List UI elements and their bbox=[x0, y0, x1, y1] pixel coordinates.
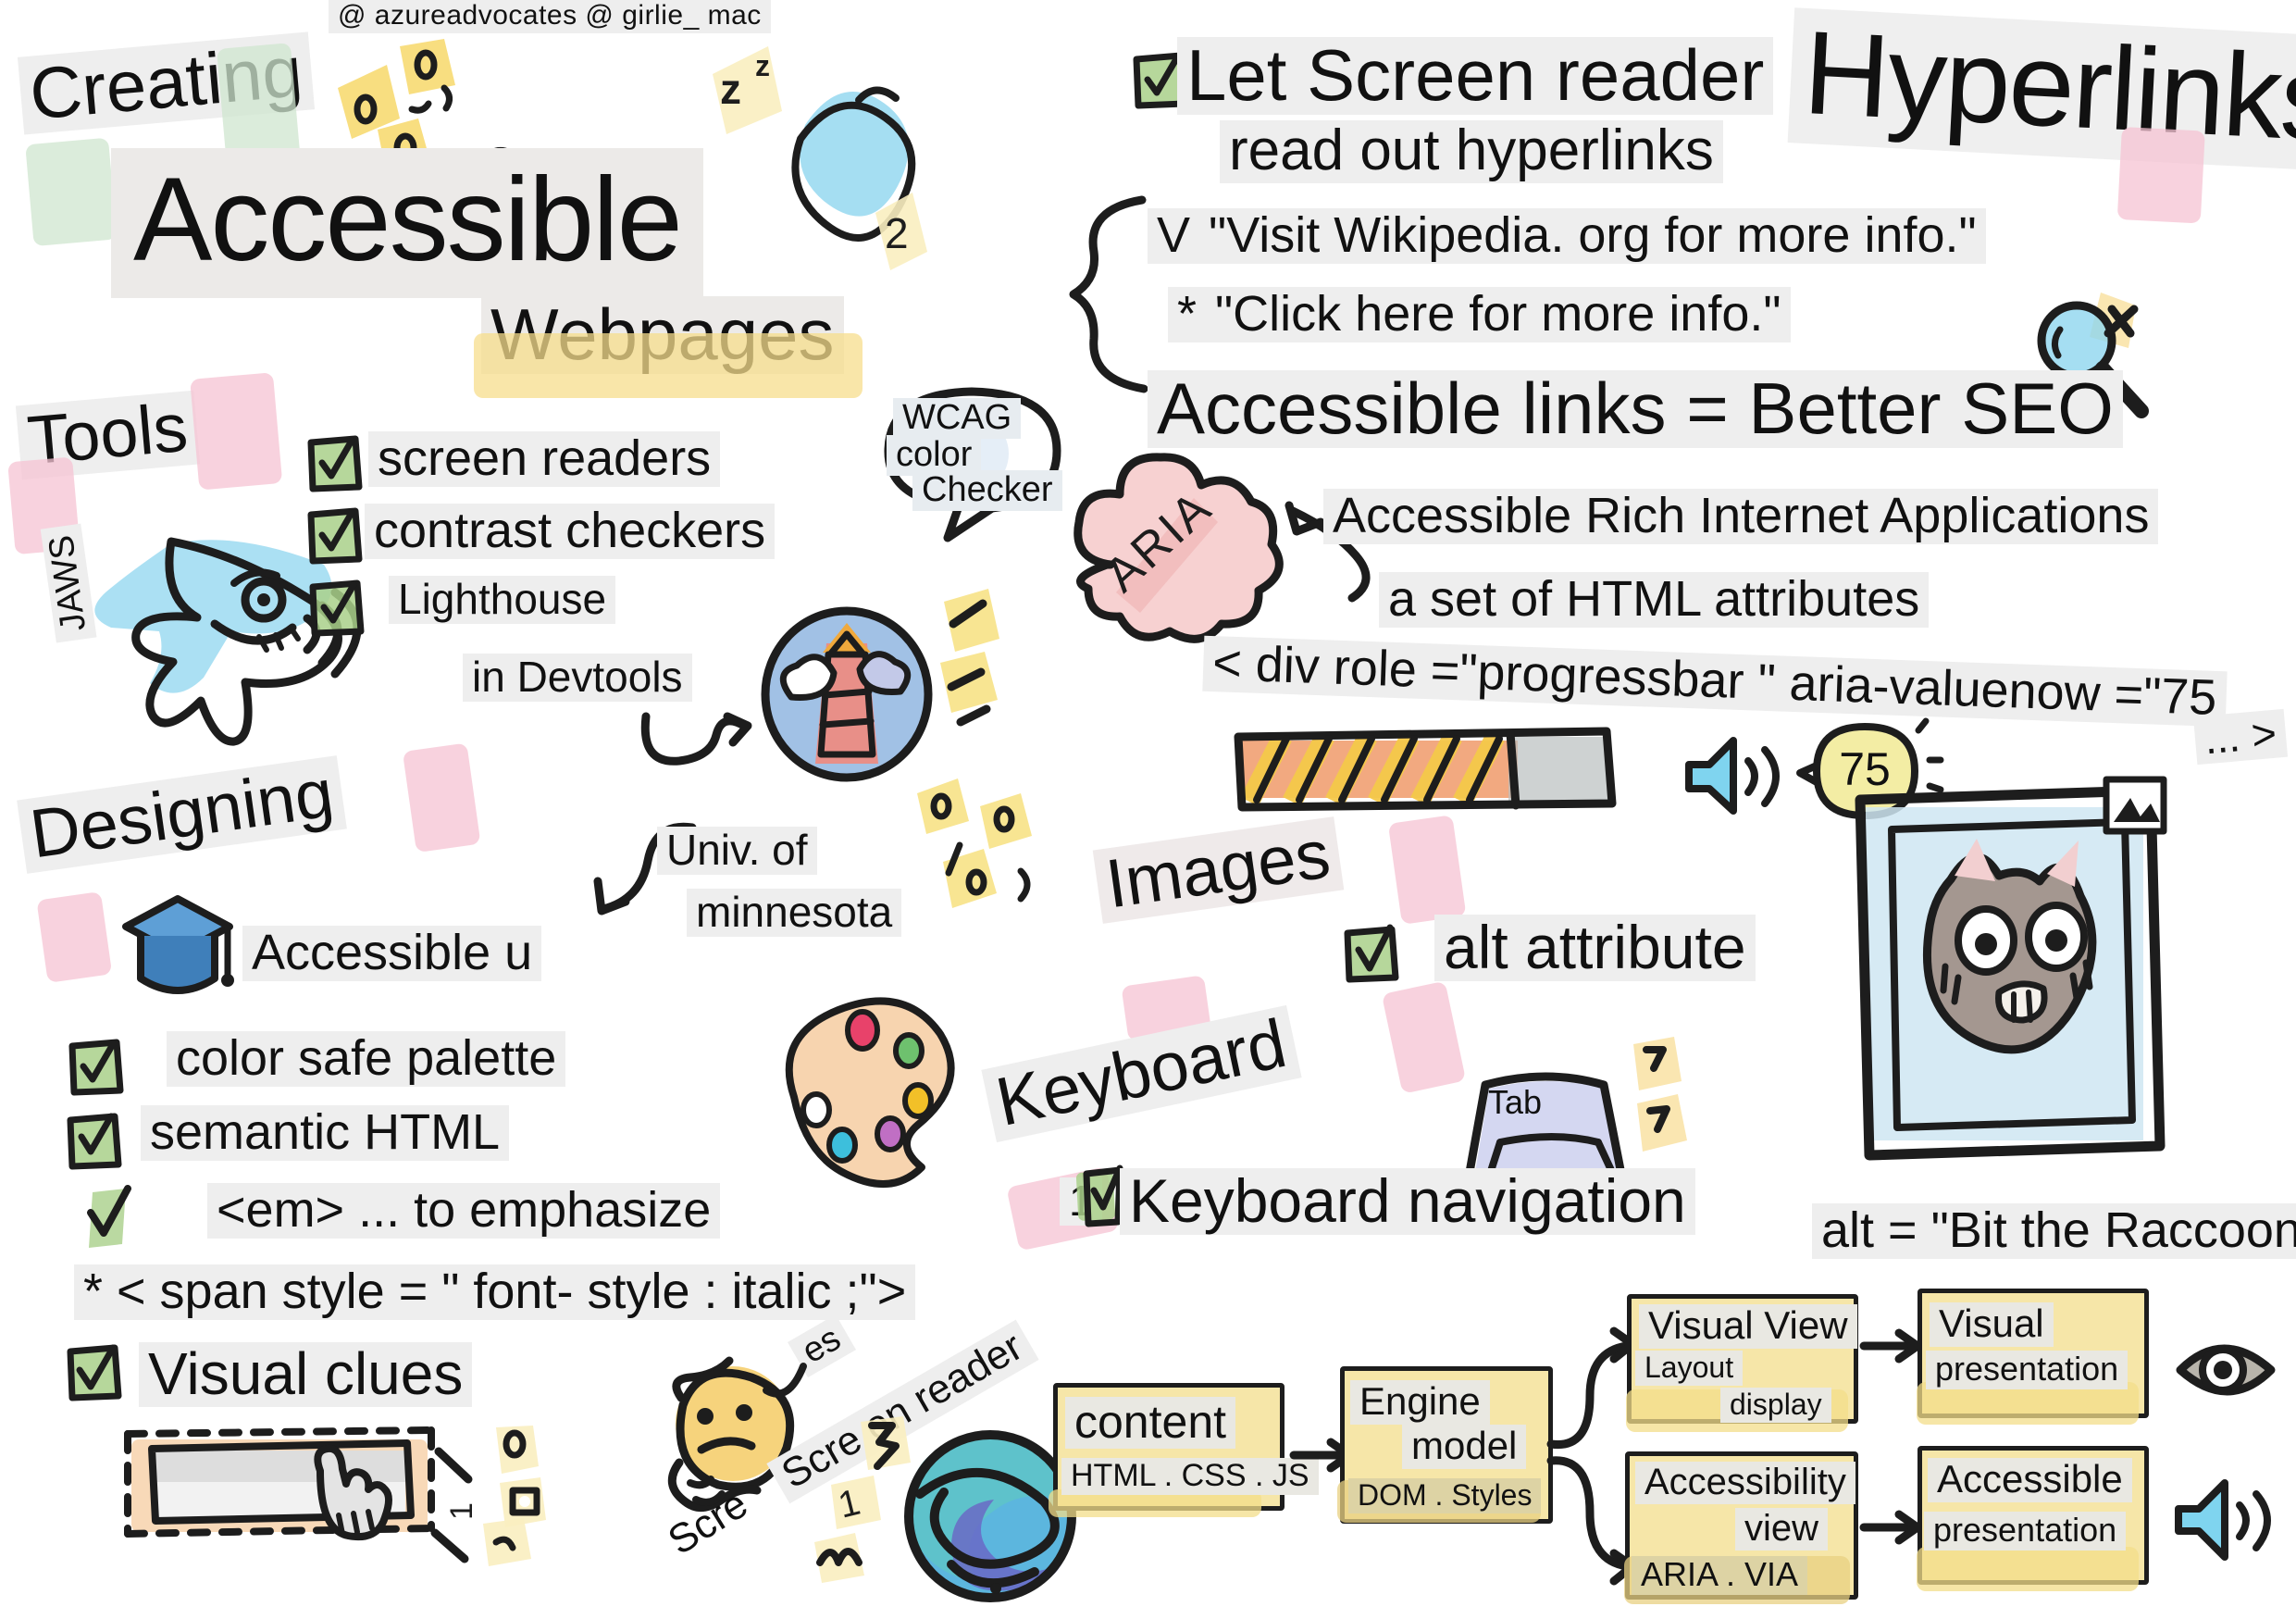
doodle-zzz-shape: z z 2 bbox=[694, 37, 935, 315]
visual-clues-text: Visual clues bbox=[139, 1342, 472, 1407]
flow-node-content: content HTML . CSS . JS bbox=[1053, 1383, 1285, 1511]
screen-reader-label: Scre bbox=[666, 1500, 750, 1546]
tab-key-label: Tab bbox=[1488, 1083, 1542, 1122]
flow-node-visual-view-sub2: display bbox=[1720, 1388, 1831, 1423]
hyperlink-good-marker: V bbox=[1148, 208, 1199, 264]
tools-subnote: in Devtools bbox=[463, 654, 692, 702]
alt-example: alt = "Bit the Raccoon" bbox=[1812, 1203, 2296, 1259]
designing-code-bad-text: * < span style = " font- style : italic … bbox=[74, 1264, 915, 1320]
flow-node-accessible-presentation: Accessible presentation bbox=[1917, 1446, 2149, 1585]
section-hyperlinks: Hyperlinks bbox=[1788, 7, 2296, 171]
palette-icon bbox=[768, 986, 972, 1189]
checkbox-color-safe-palette[interactable] bbox=[67, 1039, 124, 1096]
wcag-bubble-line1: WCAG bbox=[893, 398, 1021, 439]
hyperlink-bad: *"Click here for more info." bbox=[1168, 287, 1791, 342]
images-heading: Images bbox=[1093, 816, 1344, 924]
flow-node-visual-presentation-title: Visual bbox=[1930, 1302, 2054, 1347]
designing-item-0: color safe palette bbox=[167, 1031, 565, 1087]
checkbox-semantic-html[interactable] bbox=[65, 1113, 122, 1170]
flow-node-a11y-presentation-title: Accessible bbox=[1928, 1458, 2132, 1502]
tools-item-1-label: contrast checkers bbox=[365, 504, 775, 559]
hyperlinks-seo-text: Accessible links = Better SEO bbox=[1148, 370, 2123, 448]
tab-key-label-text: Tab bbox=[1488, 1083, 1542, 1121]
graduation-cap-icon bbox=[120, 893, 241, 1014]
alt-example-text: alt = "Bit the Raccoon" bbox=[1812, 1203, 2296, 1259]
section-tools: Tools bbox=[16, 391, 200, 479]
eye-icon bbox=[2175, 1324, 2286, 1416]
tools-subnote-text: in Devtools bbox=[463, 654, 692, 702]
designing-heading: Designing bbox=[17, 755, 347, 874]
wcag-line3-text: Checker bbox=[912, 470, 1062, 511]
flow-node-visual-view: Visual View Layout display bbox=[1627, 1294, 1858, 1424]
aria-code-text: < div role ="progressbar " aria-valuenow… bbox=[1202, 636, 2227, 728]
designing-code-bad: * < span style = " font- style : italic … bbox=[74, 1264, 915, 1320]
checkmark-emphasize[interactable] bbox=[80, 1187, 135, 1252]
designing-item-1-label: semantic HTML bbox=[141, 1105, 509, 1161]
keyboard-item-label: Keyboard navigation bbox=[1120, 1168, 1695, 1235]
hyperlink-bad-text: "Click here for more info." bbox=[1206, 287, 1791, 342]
aria-code-tail: ... > bbox=[2193, 709, 2288, 765]
flow-node-a11y-view-title2: view bbox=[1735, 1508, 1828, 1551]
aria-code: < div role ="progressbar " aria-valuenow… bbox=[1202, 636, 2227, 728]
flow-node-visual-presentation: Visual presentation bbox=[1917, 1289, 2149, 1418]
svg-text:z: z bbox=[755, 49, 770, 82]
hyperlinks-lead-line2-text: read out hyperlinks bbox=[1220, 120, 1723, 183]
tools-item-0-label: screen readers bbox=[368, 431, 720, 487]
alt-attribute-text: alt attribute bbox=[1434, 915, 1756, 981]
hyperlink-good-text: "Visit Wikipedia. org for more info." bbox=[1199, 208, 1986, 264]
doodle-tick bbox=[757, 1333, 868, 1416]
flow-node-accessibility-view: Accessibility view ARIA . VIA bbox=[1625, 1451, 1858, 1600]
checkbox-lighthouse[interactable] bbox=[307, 579, 365, 637]
checkbox-contrast-checkers[interactable] bbox=[305, 507, 363, 565]
title-creating: Creating bbox=[18, 31, 315, 134]
flow-node-engine-title2: model bbox=[1402, 1425, 1526, 1469]
svg-text:1: 1 bbox=[444, 1502, 479, 1520]
university-line2-text: minnesota bbox=[687, 889, 901, 937]
flow-node-content-sub: HTML . CSS . JS bbox=[1061, 1458, 1319, 1495]
university-line1: Univ. of bbox=[657, 827, 817, 875]
wcag-line1-text: WCAG bbox=[893, 398, 1021, 439]
aria-code-tail-text: ... > bbox=[2193, 709, 2288, 765]
flow-node-visual-view-sub1: Layout bbox=[1635, 1351, 1743, 1386]
flow-node-visual-presentation-sub: presentation bbox=[1926, 1351, 2128, 1389]
svg-text:2: 2 bbox=[885, 209, 909, 257]
raccoon-image-frame bbox=[1842, 778, 2212, 1185]
hyperlink-bad-marker: * bbox=[1168, 287, 1206, 342]
flow-node-visual-view-title: Visual View bbox=[1639, 1304, 1857, 1349]
speaker-icon bbox=[1680, 731, 1800, 824]
doodle-camera-sparkle: 1 bbox=[426, 1426, 555, 1601]
tools-item-2-label: Lighthouse bbox=[389, 576, 615, 624]
hyperlinks-heading: Hyperlinks bbox=[1788, 7, 2296, 171]
designing-item-2-label: <em> ... to emphasize bbox=[207, 1183, 720, 1239]
university-line1-text: Univ. of bbox=[657, 827, 817, 875]
doodle-sparkles-designing bbox=[912, 773, 1078, 940]
tools-item-1: contrast checkers bbox=[365, 504, 775, 559]
svg-text:z: z bbox=[720, 65, 741, 113]
aria-definition: a set of HTML attributes bbox=[1379, 572, 1929, 628]
hyperlink-good: V"Visit Wikipedia. org for more info." bbox=[1148, 208, 1986, 264]
wcag-bubble-line3: Checker bbox=[912, 470, 1062, 511]
designing-item-1: semantic HTML bbox=[141, 1105, 509, 1161]
doodle-lightning: 1 bbox=[814, 1416, 925, 1583]
hyperlinks-lead-line1-text: Let Screen reader bbox=[1177, 37, 1773, 115]
progressbar-illustration bbox=[1231, 722, 1675, 824]
checkbox-screen-readers[interactable] bbox=[305, 435, 363, 492]
alt-attribute: alt attribute bbox=[1434, 915, 1756, 981]
accessible-u-text: Accessible u bbox=[242, 926, 541, 981]
accessible-u: Accessible u bbox=[242, 926, 541, 981]
university-line2: minnesota bbox=[687, 889, 901, 937]
flow-node-a11y-view-title1: Accessibility bbox=[1635, 1462, 1855, 1504]
checkbox-visual-clues[interactable] bbox=[65, 1344, 122, 1401]
speaker-icon-bottom bbox=[2169, 1472, 2290, 1574]
lighthouse-icon bbox=[754, 606, 939, 782]
handles-text: @ azureadvocates @ girlie_ mac bbox=[329, 0, 771, 33]
keyboard-item: Keyboard navigation bbox=[1120, 1168, 1695, 1235]
tools-item-0: screen readers bbox=[368, 431, 720, 487]
flow-node-a11y-presentation-sub: presentation bbox=[1924, 1512, 2126, 1551]
flow-node-a11y-view-sub: ARIA . VIA bbox=[1632, 1556, 1807, 1595]
designing-item-2: <em> ... to emphasize bbox=[207, 1183, 720, 1239]
checkbox-alt-attribute[interactable] bbox=[1342, 926, 1399, 983]
flow-node-engine-sub: DOM . Styles bbox=[1348, 1478, 1541, 1513]
aria-definition-text: a set of HTML attributes bbox=[1379, 572, 1929, 628]
title-webpages: Webpages bbox=[481, 296, 844, 374]
hyperlinks-lead-line1: Let Screen reader bbox=[1177, 37, 1773, 115]
hyperlinks-seo: Accessible links = Better SEO bbox=[1148, 370, 2123, 448]
flow-node-engine-title1: Engine bbox=[1350, 1380, 1490, 1425]
title-accessible-text: Accessible bbox=[111, 148, 703, 298]
section-designing: Designing bbox=[17, 755, 347, 874]
flow-node-engine: Engine model DOM . Styles bbox=[1340, 1366, 1553, 1524]
flow-node-content-title: content bbox=[1065, 1397, 1235, 1449]
hyperlinks-lead-line2: read out hyperlinks bbox=[1220, 120, 1723, 183]
designing-item-0-label: color safe palette bbox=[167, 1031, 565, 1087]
title-accessible: Accessible bbox=[111, 148, 703, 298]
handles: @ azureadvocates @ girlie_ mac bbox=[329, 0, 771, 33]
doodle-sparkles-lighthouse bbox=[935, 583, 1036, 759]
aria-expansion: Accessible Rich Internet Applications bbox=[1323, 489, 2158, 544]
tools-item-2: Lighthouse bbox=[389, 576, 615, 624]
section-images: Images bbox=[1093, 816, 1344, 924]
aria-expansion-text: Accessible Rich Internet Applications bbox=[1323, 489, 2158, 544]
visual-clues: Visual clues bbox=[139, 1342, 472, 1407]
